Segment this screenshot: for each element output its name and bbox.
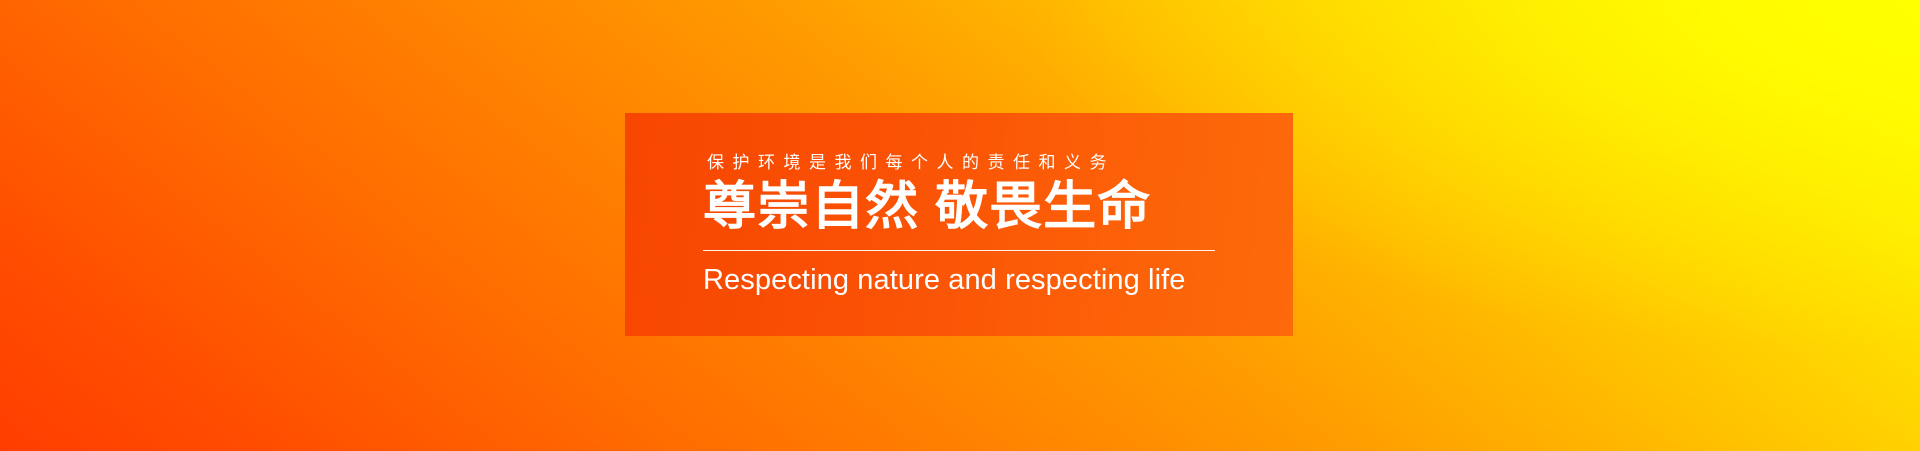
- banner-subtitle-chinese: 保护环境是我们每个人的责任和义务: [706, 154, 1215, 173]
- slogan-panel: 保护环境是我们每个人的责任和义务 尊崇自然 敬畏生命 Respecting na…: [625, 113, 1293, 336]
- banner-headline-chinese: 尊崇自然 敬畏生命: [703, 180, 1225, 235]
- headline-divider: [703, 250, 1215, 251]
- banner-subtitle-english: Respecting nature and respecting life: [703, 265, 1215, 295]
- environment-banner: 保护环境是我们每个人的责任和义务 尊崇自然 敬畏生命 Respecting na…: [0, 0, 1920, 451]
